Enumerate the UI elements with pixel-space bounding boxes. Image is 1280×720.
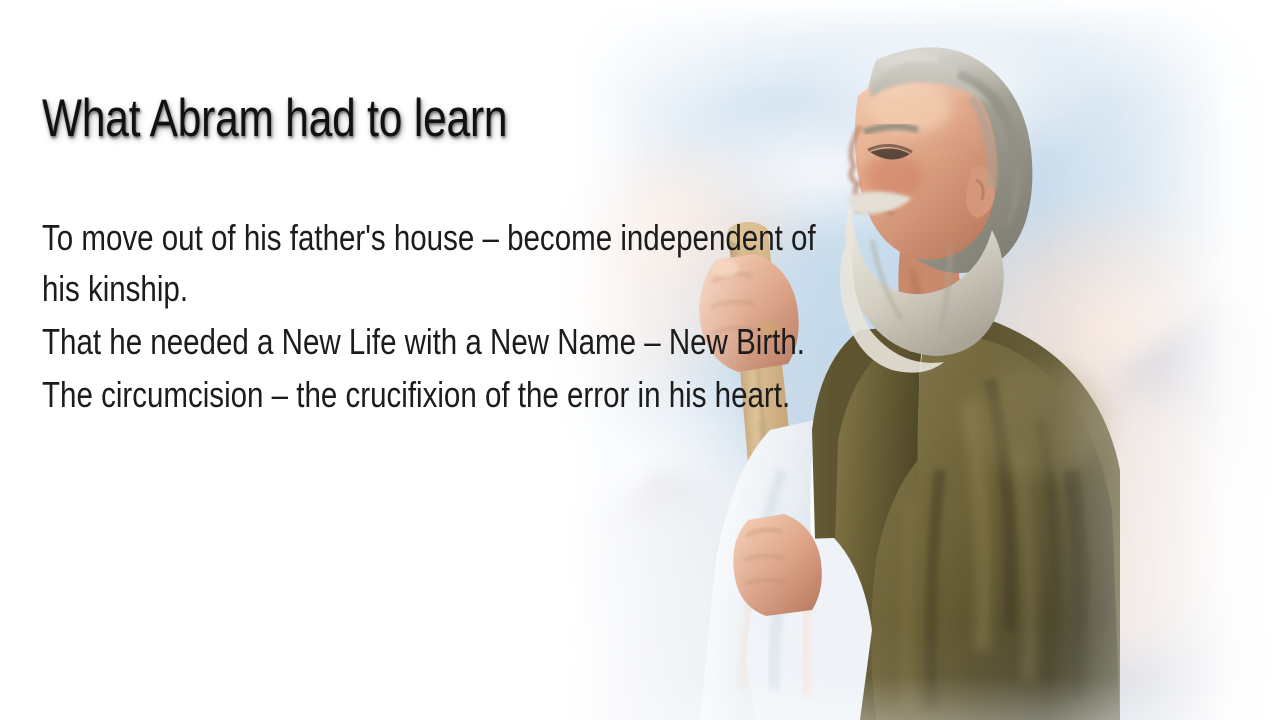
bullet-item: To move out of his father's house – beco… <box>42 212 832 314</box>
cheek <box>864 154 924 198</box>
bullet-list: To move out of his father's house – beco… <box>42 212 832 420</box>
bullet-item: That he needed a New Life with a New Nam… <box>42 316 832 367</box>
page-title: What Abram had to learn <box>42 88 570 150</box>
presentation-slide: What Abram had to learn To move out of h… <box>0 0 1280 720</box>
bullet-item: The circumcision – the crucifixion of th… <box>42 369 832 420</box>
olive-robe <box>830 335 1120 720</box>
